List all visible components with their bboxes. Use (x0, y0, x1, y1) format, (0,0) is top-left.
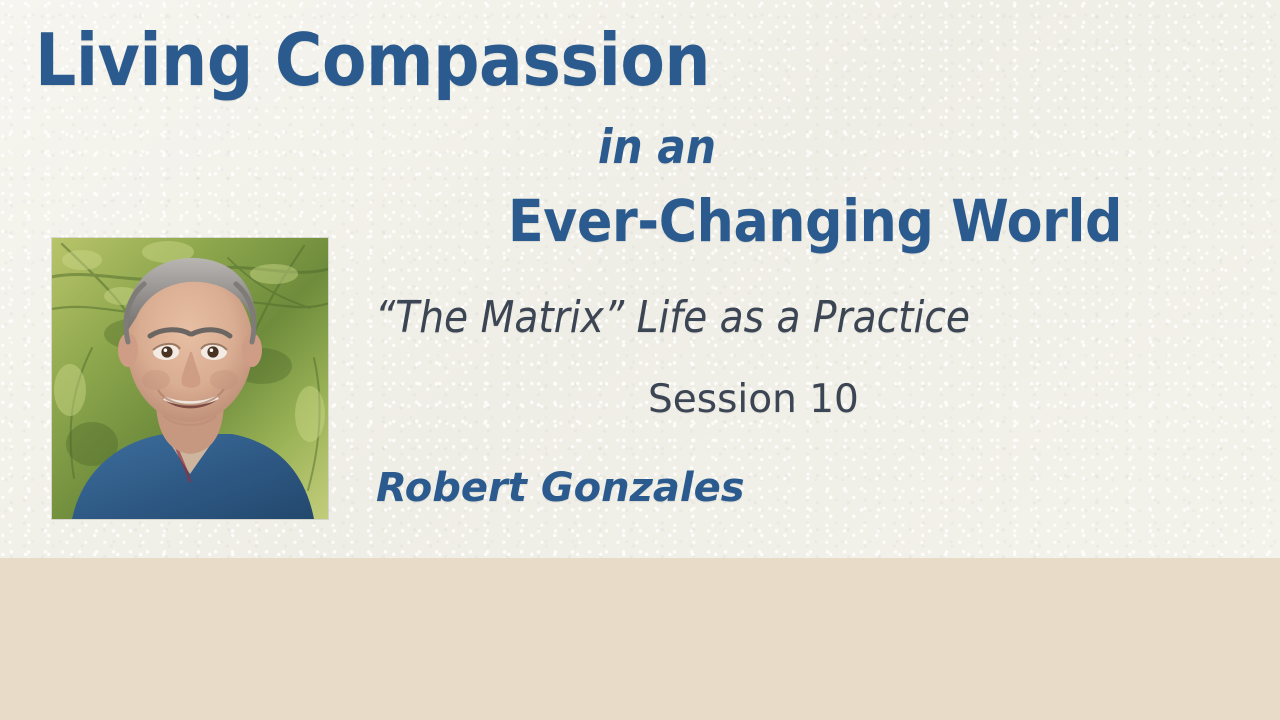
session-label: Session 10 (648, 380, 859, 419)
slide-title-line-2: in an (598, 124, 716, 171)
footer-branding-bar: NVCLibrary The World’s Largest NVC Train… (0, 558, 1280, 720)
presenter-name: Robert Gonzales (376, 468, 745, 508)
slide-title-line-3: Ever-Changing World (508, 192, 1122, 250)
presentation-slide: Living Compassion in an Ever-Changing Wo… (0, 0, 1280, 720)
slide-title-line-1: Living Compassion (35, 24, 710, 96)
presenter-portrait-photo (52, 238, 328, 519)
slide-subtitle: “The Matrix” Life as a Practice (375, 296, 970, 340)
